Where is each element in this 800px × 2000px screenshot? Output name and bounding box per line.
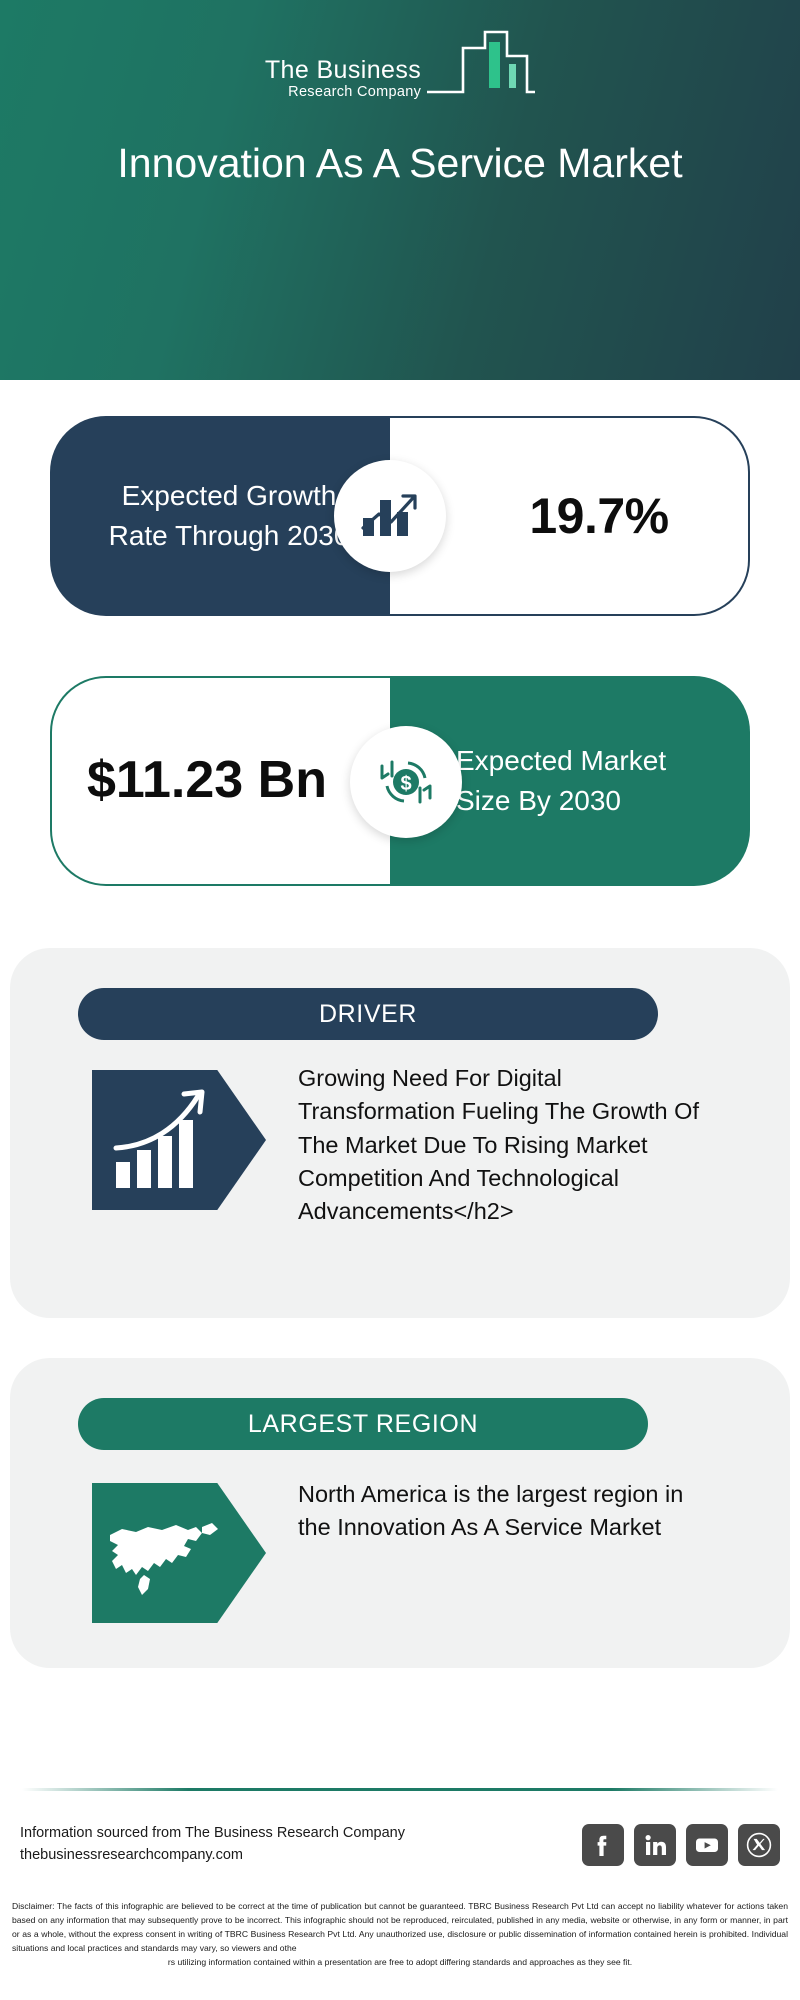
disclaimer-last-line: rs utilizing information contained withi… [12,1956,788,1970]
header-banner: The Business Research Company Innovation… [0,0,800,380]
market-size-value-panel: $11.23 Bn [50,676,390,886]
growth-bars-arrow-icon [92,1070,266,1210]
facebook-icon[interactable] [582,1824,624,1866]
stat-card-growth-rate: Expected Growth Rate Through 2030 19.7% [50,416,750,616]
youtube-icon[interactable] [686,1824,728,1866]
stat-card-market-size: $11.23 Bn Expected Market Size By 2030 $ [50,676,750,886]
logo-line-2: Research Company [288,84,421,101]
linkedin-icon[interactable] [634,1824,676,1866]
logo-text: The Business Research Company [265,57,421,109]
social-links [582,1824,780,1866]
svg-text:$: $ [400,773,411,795]
growth-chart-arrow-icon [334,460,446,572]
disclaimer-body: Disclaimer: The facts of this infographi… [12,1901,788,1953]
growth-rate-value: 19.7% [469,487,668,545]
market-size-value: $11.23 Bn [87,749,355,812]
dollar-cycle-icon: $ [350,726,462,838]
north-america-map-icon [92,1483,266,1623]
source-line-2[interactable]: thebusinessresearchcompany.com [20,1844,405,1866]
driver-badge: DRIVER [78,988,658,1040]
source-attribution: Information sourced from The Business Re… [20,1822,405,1867]
infographic-page: The Business Research Company Innovation… [0,0,800,2000]
bar-chart-logo-mark-icon [423,26,535,103]
largest-region-description: North America is the largest region in t… [298,1478,718,1545]
logo-line-1: The Business [265,57,421,83]
driver-description: Growing Need For Digital Transformation … [298,1062,718,1229]
x-twitter-icon[interactable] [738,1824,780,1866]
company-logo: The Business Research Company [0,26,800,109]
footer-divider [22,1788,778,1791]
largest-region-badge: LARGEST REGION [78,1398,648,1450]
page-title: Innovation As A Service Market [0,138,800,188]
source-line-1: Information sourced from The Business Re… [20,1822,405,1844]
disclaimer-text: Disclaimer: The facts of this infographi… [12,1900,788,1970]
